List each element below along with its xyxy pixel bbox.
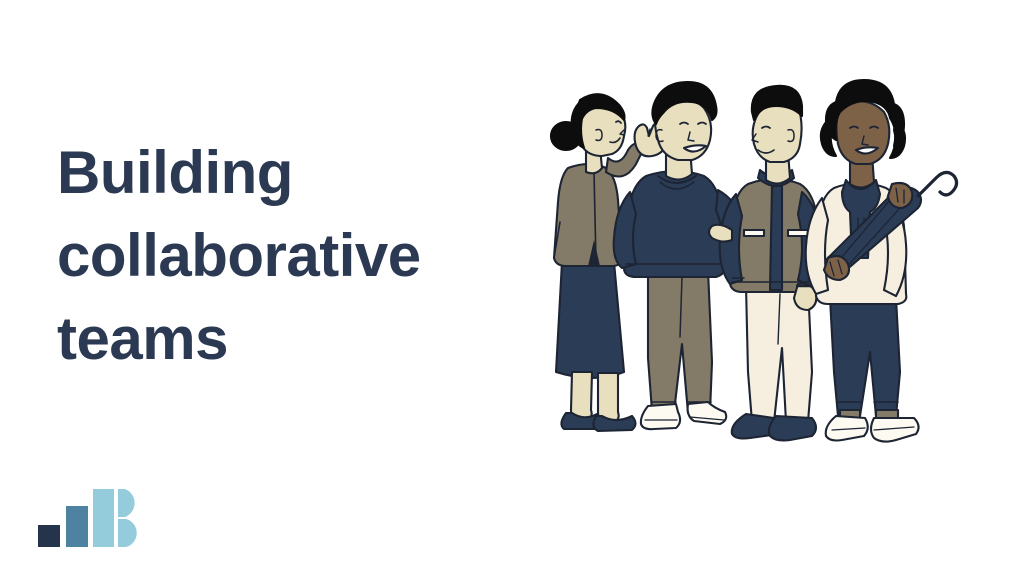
hero-illustration: Flat line illustration of four colleague… <box>540 72 960 452</box>
page-title: Building collaborative teams <box>57 132 527 380</box>
hair-bun <box>551 122 581 150</box>
logo-bar-medium <box>66 506 88 547</box>
slide-canvas: Building collaborative teams B <box>0 0 1024 576</box>
logo-bar-small <box>38 525 60 547</box>
logo-letter-b-lower <box>118 519 137 547</box>
logo-letter-b-upper <box>118 489 135 517</box>
brand-logo[interactable]: B <box>36 487 140 549</box>
figure-woman-with-umbrella <box>806 80 957 442</box>
logo-bar-tall <box>93 489 114 547</box>
figure-man-olive-bomber <box>709 86 820 441</box>
